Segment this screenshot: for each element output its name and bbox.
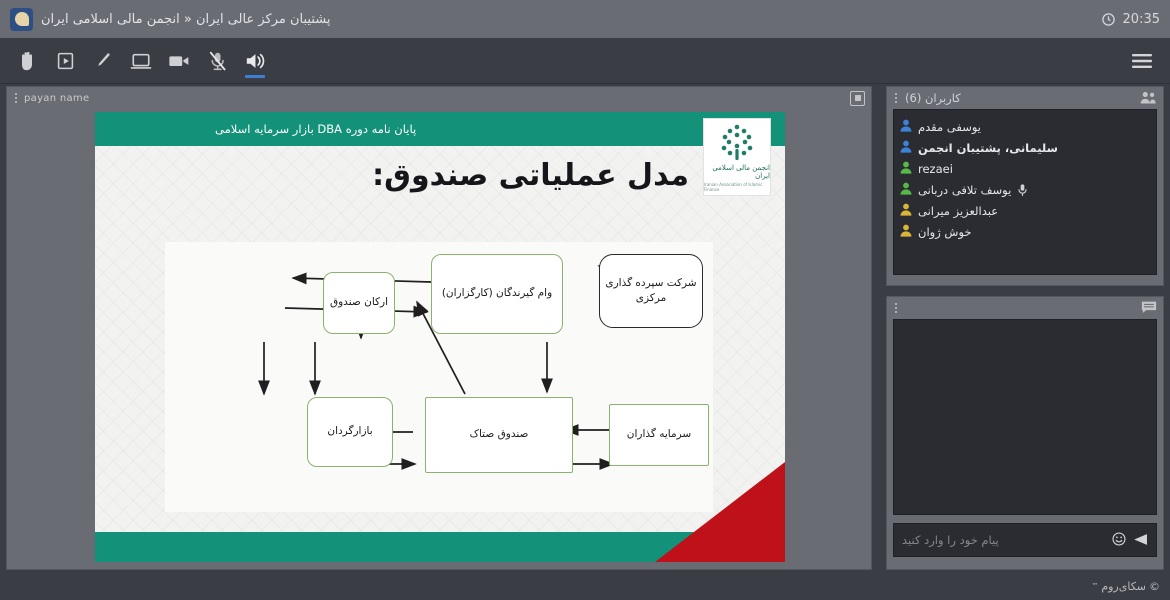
- main-toolbar: [0, 38, 1170, 84]
- presentation-title: payan name: [24, 93, 89, 104]
- clock-time: 20:35: [1123, 12, 1160, 27]
- chat-action-buttons: [1112, 531, 1148, 550]
- screenshare-button[interactable]: [122, 41, 160, 81]
- chat-bubble-icon: [1141, 299, 1157, 318]
- user-name: سلیمانی، پشتیبان انجمن: [918, 141, 1058, 155]
- user-icon: [900, 159, 912, 178]
- clock-icon: [1101, 12, 1116, 27]
- room-title: پشتیبان مرکز عالی ایران « انجمن مالی اسل…: [10, 8, 330, 31]
- people-icon: [1140, 89, 1157, 108]
- camera-button[interactable]: [160, 41, 198, 81]
- brand-logo-icon: [10, 8, 33, 31]
- title-bar: 20:35 پشتیبان مرکز عالی ایران « انجمن ما…: [0, 0, 1170, 38]
- list-item[interactable]: خوش ژوان: [900, 221, 1148, 242]
- chat-input-row[interactable]: پیام خود را وارد کنید: [893, 523, 1157, 557]
- stage-header: payan name: [7, 87, 871, 109]
- kebab-menu-icon[interactable]: [893, 301, 899, 315]
- expand-frame-icon: [850, 91, 865, 106]
- slide-red-decoration: [655, 462, 785, 562]
- user-name: rezaei: [918, 162, 953, 176]
- diagram-box-sarmaye: سرمایه گذاران: [609, 404, 709, 466]
- list-item[interactable]: عبدالعزیز میرانی: [900, 200, 1148, 221]
- watermark-copyright: ©: [1149, 580, 1160, 593]
- whiteboard-button[interactable]: [84, 41, 122, 81]
- association-logo: انجمن مالی اسلامی ایران Iranian Associat…: [703, 118, 771, 196]
- diagram-box-sepordeh: شرکت سپرده گذاری مرکزی: [599, 254, 703, 328]
- room-title-text: پشتیبان مرکز عالی ایران « انجمن مالی اسل…: [41, 12, 330, 27]
- send-arrow-icon[interactable]: [1133, 531, 1148, 550]
- user-name: یوسفی مقدم: [918, 120, 981, 134]
- microphone-button[interactable]: [198, 41, 236, 81]
- slide-canvas: پایان نامه دوره DBA بازار سرمایه اسلامی …: [95, 112, 785, 562]
- slide-header-bar: پایان نامه دوره DBA بازار سرمایه اسلامی: [95, 112, 785, 146]
- chat-messages-list[interactable]: [893, 319, 1157, 515]
- kebab-menu-icon[interactable]: [13, 91, 19, 105]
- slide-title: مدل عملیاتی صندوق:: [372, 158, 689, 193]
- mic-active-icon: [1017, 183, 1028, 197]
- users-panel-title: کاربران (6): [905, 91, 961, 105]
- skyroom-watermark: © سکای‌روم ™: [1091, 580, 1160, 593]
- logo-caption-fa: انجمن مالی اسلامی ایران: [704, 164, 770, 180]
- clock: 20:35: [1101, 12, 1160, 27]
- speaker-button[interactable]: [236, 41, 274, 81]
- user-icon: [900, 180, 912, 199]
- users-panel-header: کاربران (6): [887, 87, 1163, 109]
- slide-header-text: پایان نامه دوره DBA بازار سرمایه اسلامی: [215, 122, 430, 136]
- kebab-menu-icon[interactable]: [893, 91, 899, 105]
- diagram-box-arkan: ارکان صندوق: [323, 272, 395, 334]
- diagram-box-vam: وام گیرندگان (کارگزاران): [431, 254, 563, 334]
- hamburger-menu-icon[interactable]: [1122, 41, 1162, 81]
- operational-model-diagram: شرکت سپرده گذاری مرکزی وام گیرندگان (کار…: [165, 242, 713, 512]
- footer-bar: © سکای‌روم ™: [0, 572, 1170, 600]
- list-item[interactable]: یوسفی مقدم: [900, 116, 1148, 137]
- diagram-box-sandogh: صندوق صتاک: [425, 397, 573, 473]
- users-panel: کاربران (6) یوسفی مقدم سلیمانی، پشتیبان …: [886, 86, 1164, 286]
- users-list[interactable]: یوسفی مقدم سلیمانی، پشتیبان انجمن rezaei…: [893, 109, 1157, 275]
- user-icon: [900, 117, 912, 136]
- watermark-text: سکای‌روم: [1101, 580, 1146, 593]
- stage-header-right: payan name: [13, 91, 89, 105]
- raise-hand-button[interactable]: [8, 41, 46, 81]
- expand-frame-button[interactable]: [850, 91, 865, 106]
- logo-mark-icon: [717, 122, 757, 162]
- user-name: خوش ژوان: [918, 225, 972, 239]
- user-name: یوسف تلافی دربانی: [918, 183, 1011, 197]
- user-name: عبدالعزیز میرانی: [918, 204, 998, 218]
- list-item[interactable]: سلیمانی، پشتیبان انجمن: [900, 137, 1148, 158]
- presentation-button[interactable]: [46, 41, 84, 81]
- chat-panel-header: [887, 297, 1163, 319]
- presentation-stage: payan name پایان نامه دوره DBA بازار سرم…: [6, 86, 872, 570]
- logo-caption-en: Iranian Association of Islamic Finance: [704, 182, 770, 192]
- skyroom-meeting-window: 20:35 پشتیبان مرکز عالی ایران « انجمن ما…: [0, 0, 1170, 600]
- list-item[interactable]: یوسف تلافی دربانی: [900, 179, 1148, 200]
- user-icon: [900, 222, 912, 241]
- watermark-tm: ™: [1091, 582, 1098, 590]
- list-item[interactable]: rezaei: [900, 158, 1148, 179]
- user-icon: [900, 201, 912, 220]
- diagram-box-bazargardan: بازارگردان: [307, 397, 393, 467]
- toolbar-buttons: [8, 41, 274, 81]
- chat-input[interactable]: پیام خود را وارد کنید: [902, 533, 999, 547]
- emoji-icon[interactable]: [1112, 531, 1126, 550]
- chat-panel: پیام خود را وارد کنید: [886, 296, 1164, 570]
- user-icon: [900, 138, 912, 157]
